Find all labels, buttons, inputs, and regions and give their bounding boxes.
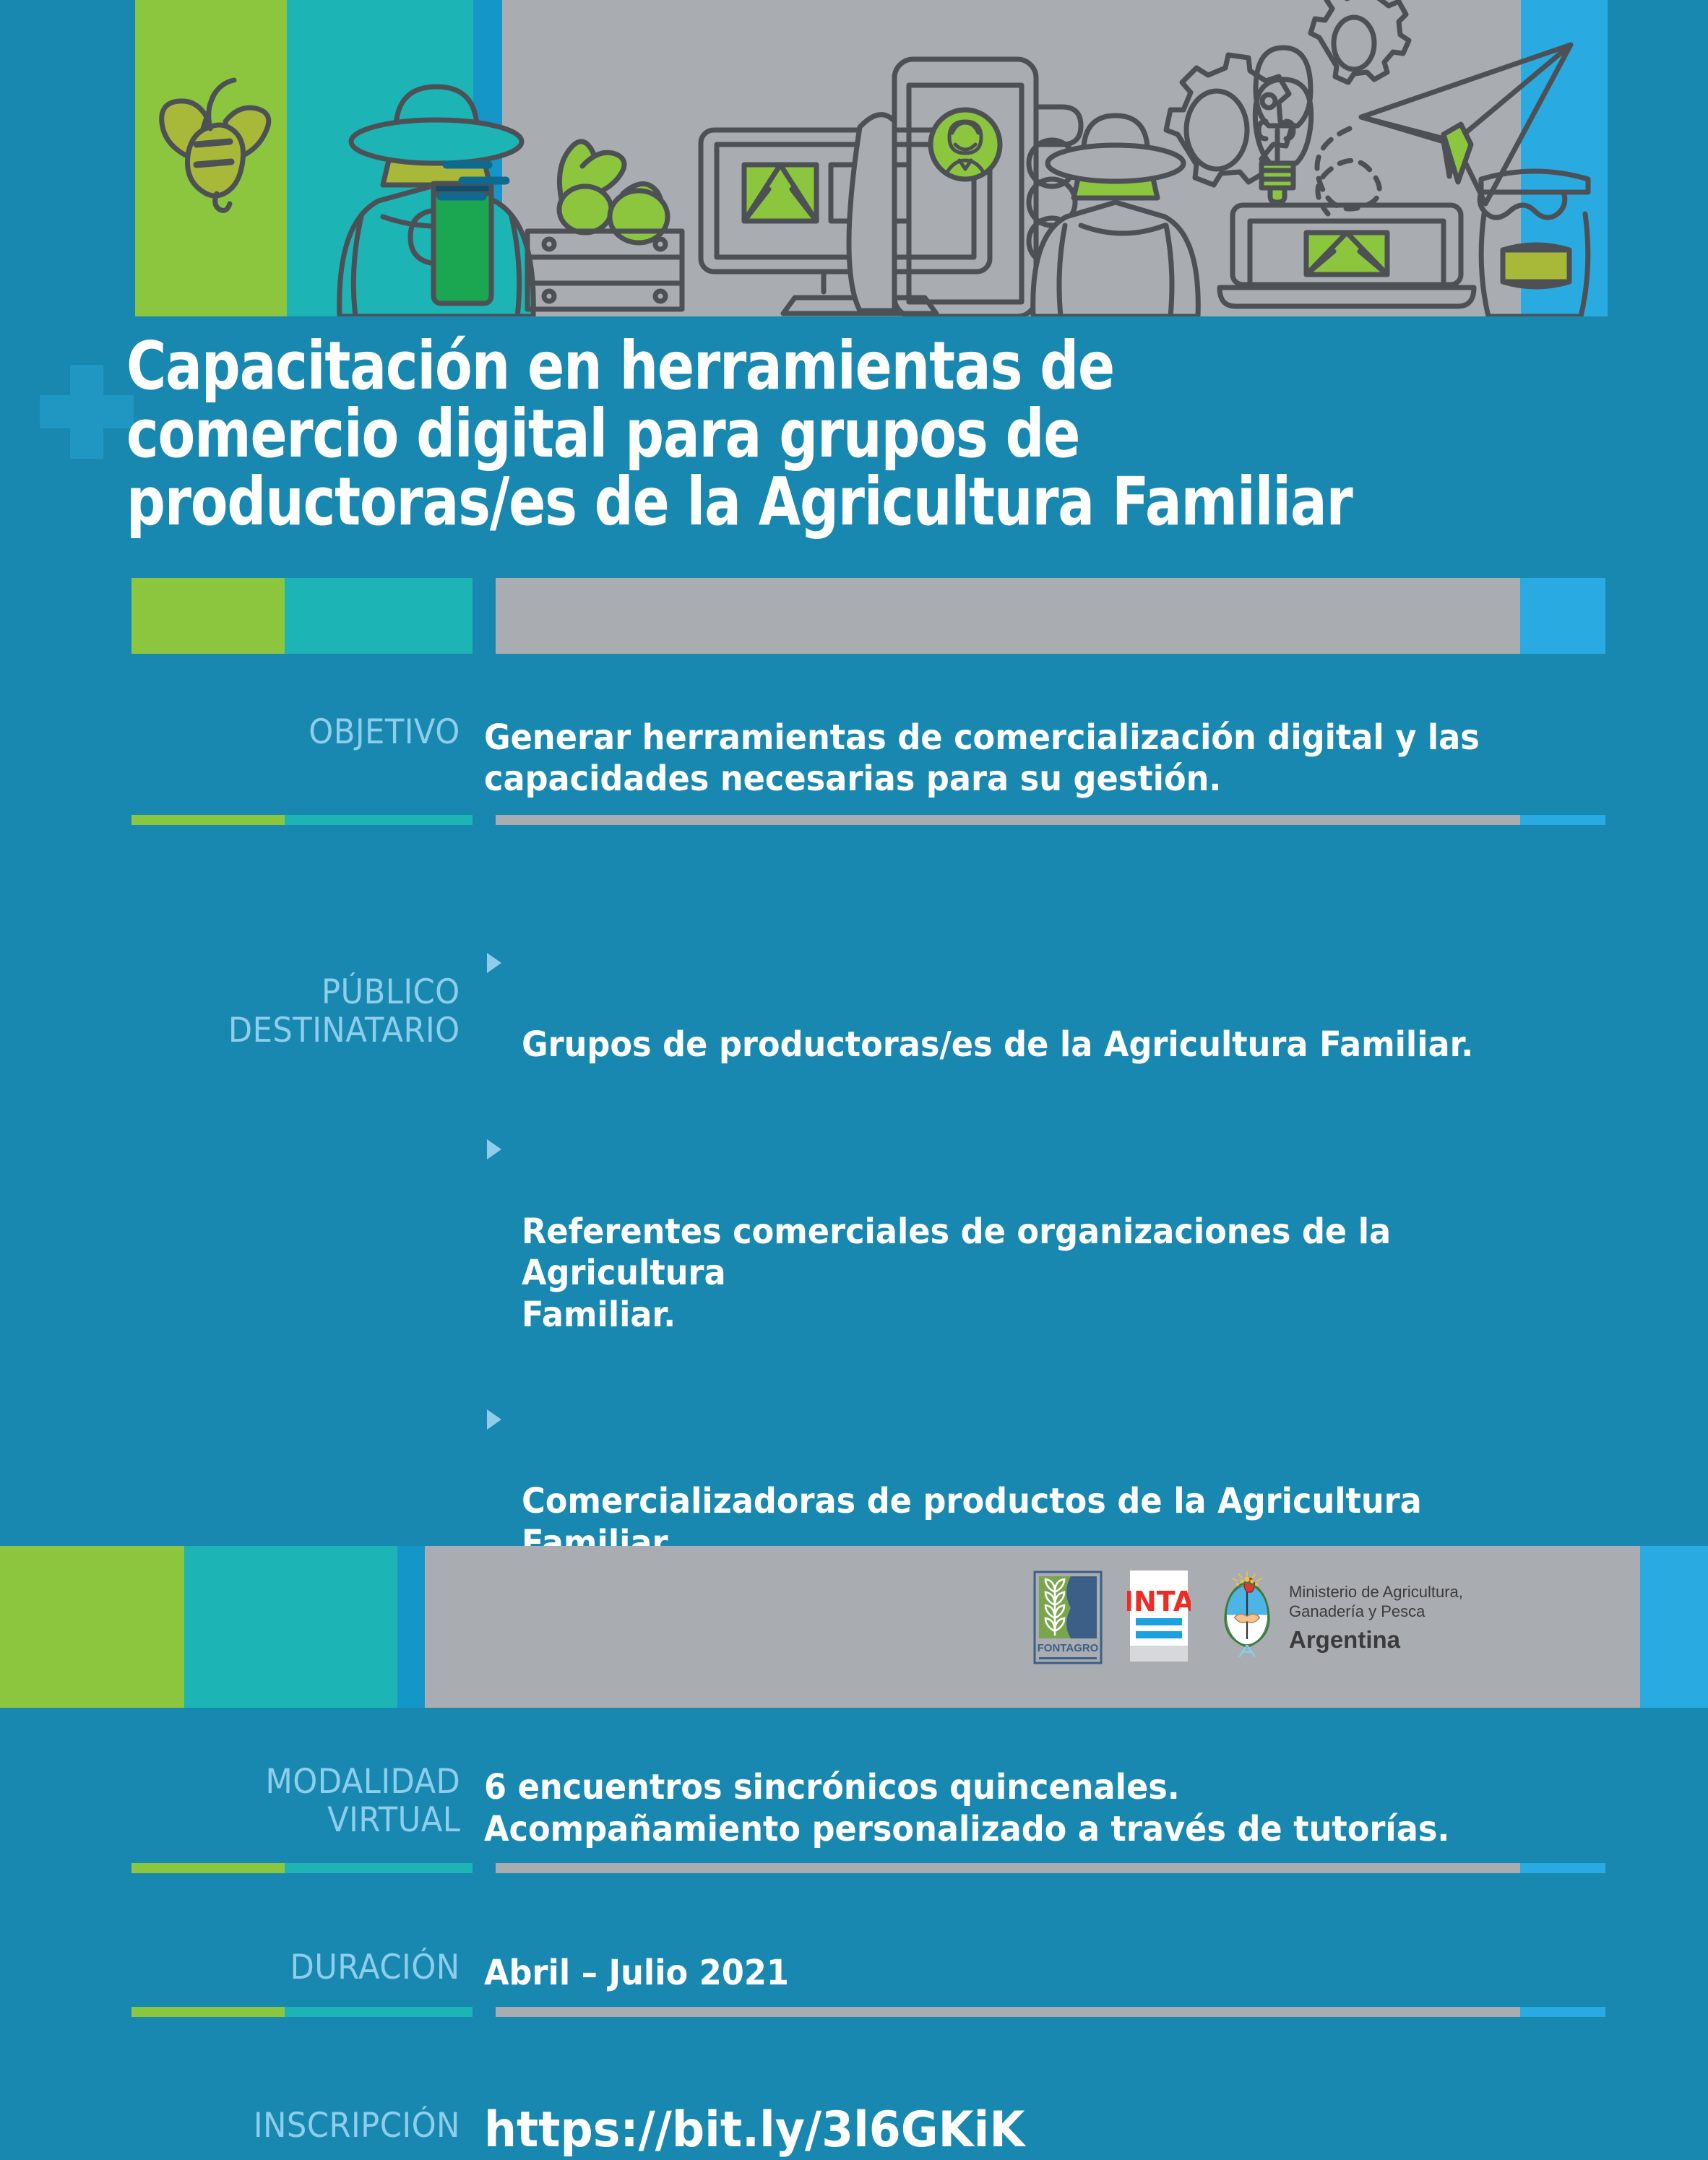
ministry-text-block: Ministerio de Agricultura, Ganadería y P… bbox=[1289, 1583, 1463, 1654]
row-body-publico: Grupos de productoras/es de la Agricultu… bbox=[484, 858, 1708, 1648]
accent-green-block bbox=[131, 578, 285, 654]
fontagro-caption: FONTAGRO bbox=[1038, 1642, 1099, 1654]
footer-logos: FONTAGRO INTA bbox=[1033, 1571, 1463, 1668]
list-item: Comercializadoras de productos de la Agr… bbox=[484, 1398, 1571, 1564]
triangle-bullet-icon bbox=[487, 1139, 501, 1159]
ministry-line-2: Ganadería y Pesca bbox=[1289, 1602, 1463, 1622]
row-label-objetivo: OBJETIVO bbox=[0, 675, 484, 800]
argentina-coat-of-arms-icon bbox=[1215, 1571, 1279, 1666]
divider-teal-segment bbox=[285, 1863, 473, 1873]
accent-teal-block bbox=[285, 578, 473, 654]
inta-logo: INTA bbox=[1127, 1571, 1191, 1668]
ministry-logo: Ministerio de Agricultura, Ganadería y P… bbox=[1215, 1571, 1463, 1666]
row-publico-destinatario: PÚBLICO DESTINATARIO Grupos de productor… bbox=[0, 825, 1708, 1648]
row-inscripcion: INSCRIPCIÓN https://bit.ly/3l6GKiK bbox=[0, 2017, 1708, 2159]
header-illustration-band bbox=[0, 0, 1708, 316]
triangle-bullet-icon bbox=[487, 953, 501, 973]
divider-3 bbox=[0, 1863, 1708, 1873]
plus-decoration-icon bbox=[40, 365, 134, 459]
divider-green-segment bbox=[131, 2007, 285, 2017]
ministry-country: Argentina bbox=[1289, 1626, 1463, 1654]
accent-band bbox=[0, 578, 1708, 654]
ministry-line-1: Ministerio de Agricultura, bbox=[1289, 1583, 1463, 1602]
divider-green-segment bbox=[131, 1863, 285, 1873]
page-title: Capacitación en herramientas de comercio… bbox=[126, 332, 1353, 535]
footer-lightblue-block bbox=[1640, 1546, 1708, 1708]
divider-lightblue-segment bbox=[1520, 815, 1605, 825]
registration-link[interactable]: https://bit.ly/3l6GKiK bbox=[484, 2101, 1025, 2160]
row-label-duracion: DURACIÓN bbox=[0, 1911, 484, 1994]
divider-lightblue-segment bbox=[1520, 2007, 1605, 2017]
row-body-inscripcion: https://bit.ly/3l6GKiK bbox=[484, 2059, 1708, 2159]
accent-lightblue-block bbox=[1520, 578, 1605, 654]
divider-1 bbox=[0, 815, 1708, 825]
footer-band: FONTAGRO INTA bbox=[0, 1546, 1708, 1708]
footer-blue-strip bbox=[397, 1546, 425, 1708]
accent-gap bbox=[473, 578, 496, 654]
fontagro-logo: FONTAGRO bbox=[1033, 1571, 1103, 1668]
inta-wordmark: INTA bbox=[1127, 1586, 1191, 1617]
list-item: Grupos de productoras/es de la Agricultu… bbox=[484, 941, 1571, 1066]
divider-gray-segment bbox=[496, 1863, 1520, 1873]
row-duracion: DURACIÓN Abril – Julio 2021 bbox=[0, 1873, 1708, 1994]
accent-gray-block bbox=[496, 578, 1520, 654]
header-green-panel bbox=[135, 0, 287, 316]
row-label-modalidad: MODALIDAD VIRTUAL bbox=[0, 1725, 484, 1850]
info-rows: OBJETIVO Generar herramientas de comerci… bbox=[0, 675, 1708, 2160]
divider-teal-segment bbox=[285, 815, 473, 825]
divider-green-segment bbox=[131, 815, 285, 825]
bullet-list: Grupos de productoras/es de la Agricultu… bbox=[484, 899, 1571, 1606]
row-objetivo: OBJETIVO Generar herramientas de comerci… bbox=[0, 675, 1708, 800]
row-modalidad-virtual: MODALIDAD VIRTUAL 6 encuentros sincrónic… bbox=[0, 1690, 1708, 1850]
row-body-objetivo: Generar herramientas de comercialización… bbox=[484, 675, 1708, 800]
row-body-modalidad: 6 encuentros sincrónicos quincenales. Ac… bbox=[484, 1725, 1708, 1850]
divider-gap bbox=[473, 1863, 496, 1873]
header-teal-panel bbox=[287, 0, 473, 316]
title-wrapper: Capacitación en herramientas de comercio… bbox=[126, 332, 1622, 535]
list-item: Referentes comerciales de organizaciones… bbox=[484, 1128, 1571, 1336]
divider-gray-segment bbox=[496, 815, 1520, 825]
divider-4 bbox=[0, 2007, 1708, 2017]
header-lightblue-panel bbox=[1521, 0, 1608, 316]
row-body-duracion: Abril – Julio 2021 bbox=[484, 1911, 1708, 1994]
footer-teal-block bbox=[184, 1546, 397, 1708]
triangle-bullet-icon bbox=[487, 1409, 501, 1430]
divider-gap bbox=[473, 2007, 496, 2017]
row-label-inscripcion: INSCRIPCIÓN bbox=[0, 2059, 484, 2159]
divider-lightblue-segment bbox=[1520, 1863, 1605, 1873]
footer-green-block bbox=[0, 1546, 184, 1708]
divider-teal-segment bbox=[285, 2007, 473, 2017]
divider-gap bbox=[473, 815, 496, 825]
header-gray-panel bbox=[502, 0, 1521, 316]
header-blue-strip bbox=[473, 0, 502, 316]
divider-gray-segment bbox=[496, 2007, 1520, 2017]
row-label-publico: PÚBLICO DESTINATARIO bbox=[0, 858, 484, 1648]
